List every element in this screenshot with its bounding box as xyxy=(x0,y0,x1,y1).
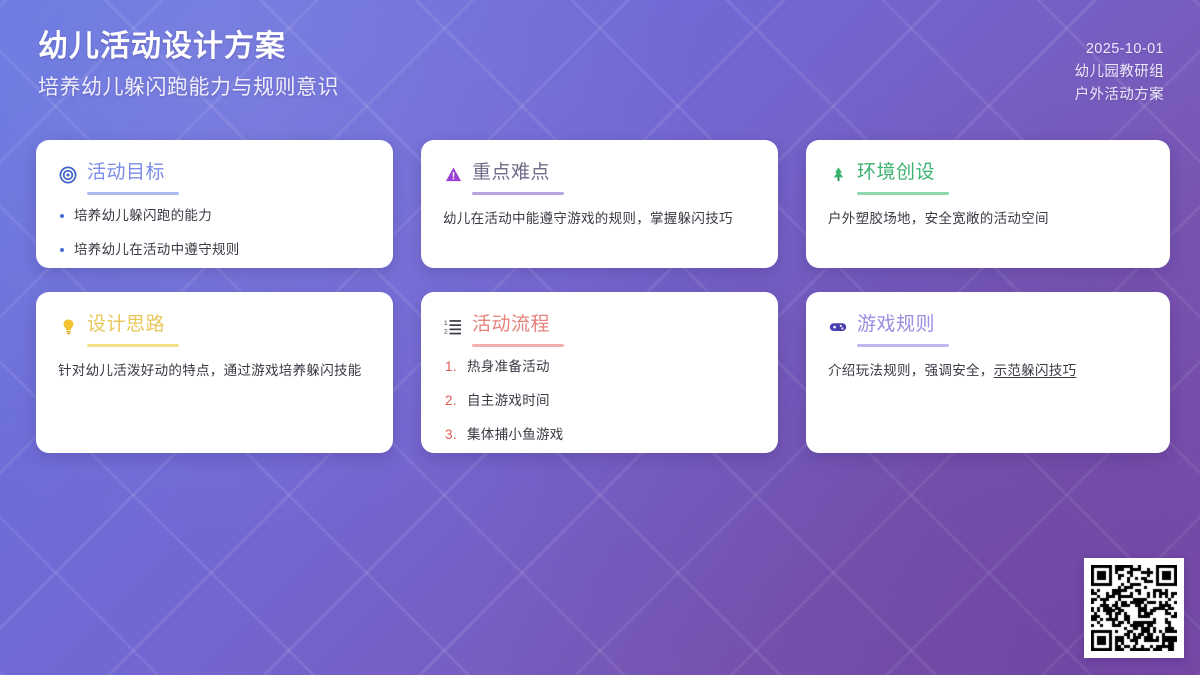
title-underline xyxy=(472,344,564,347)
card-header: 游戏规则 xyxy=(828,312,1150,341)
title-underline xyxy=(87,192,179,195)
card-body: 幼儿在活动中能遵守游戏的规则，掌握躲闪技巧 xyxy=(443,208,758,230)
warning-triangle-icon xyxy=(443,165,463,185)
qr-code xyxy=(1091,565,1177,651)
target-icon xyxy=(58,165,78,185)
card-grid: 活动目标 培养幼儿躲闪跑的能力 培养幼儿在活动中遵守规则 重点难点 xyxy=(36,140,1166,453)
card-body: 针对幼儿活泼好动的特点，通过游戏培养躲闪技能 xyxy=(58,360,373,382)
list-item: 培养幼儿躲闪跑的能力 xyxy=(58,205,373,227)
card-header: 重点难点 xyxy=(443,160,758,189)
card-activity-flow[interactable]: 1 2 活动流程 热身准备活动 自主游戏时间 集体捕小鱼游戏 xyxy=(421,292,778,453)
card-title: 活动目标 xyxy=(87,160,165,189)
card-body-emphasis: 示范躲闪技巧 xyxy=(994,363,1077,378)
page-title: 幼儿活动设计方案 xyxy=(38,26,339,68)
title-underline xyxy=(87,344,179,347)
card-activity-goals[interactable]: 活动目标 培养幼儿躲闪跑的能力 培养幼儿在活动中遵守规则 xyxy=(36,140,393,268)
card-design-approach[interactable]: 设计思路 针对幼儿活泼好动的特点，通过游戏培养躲闪技能 xyxy=(36,292,393,453)
meta-date: 2025-10-01 xyxy=(1075,38,1164,61)
header-left: 幼儿活动设计方案 培养幼儿躲闪跑能力与规则意识 xyxy=(38,26,339,106)
numbered-list-icon: 1 2 xyxy=(443,317,463,337)
slide-header: 幼儿活动设计方案 培养幼儿躲闪跑能力与规则意识 2025-10-01 幼儿园教研… xyxy=(0,0,1200,126)
meta-category: 户外活动方案 xyxy=(1075,84,1164,107)
card-key-difficulties[interactable]: 重点难点 幼儿在活动中能遵守游戏的规则，掌握躲闪技巧 xyxy=(421,140,778,268)
list-item: 培养幼儿在活动中遵守规则 xyxy=(58,239,373,261)
card-body: 户外塑胶场地，安全宽敞的活动空间 xyxy=(828,208,1150,230)
card-title: 游戏规则 xyxy=(857,312,935,341)
card-header: 设计思路 xyxy=(58,312,373,341)
card-title: 设计思路 xyxy=(87,312,165,341)
qr-code-container[interactable] xyxy=(1084,558,1184,658)
meta-org: 幼儿园教研组 xyxy=(1075,61,1164,84)
title-underline xyxy=(857,192,949,195)
list-item: 热身准备活动 xyxy=(443,356,758,378)
card-environment-setup[interactable]: 环境创设 户外塑胶场地，安全宽敞的活动空间 xyxy=(806,140,1170,268)
title-underline xyxy=(857,344,949,347)
card-header: 环境创设 xyxy=(828,160,1150,189)
card-game-rules[interactable]: 游戏规则 介绍玩法规则，强调安全，示范躲闪技巧 xyxy=(806,292,1170,453)
page-subtitle: 培养幼儿躲闪跑能力与规则意识 xyxy=(38,70,339,106)
slide-canvas: 幼儿活动设计方案 培养幼儿躲闪跑能力与规则意识 2025-10-01 幼儿园教研… xyxy=(0,0,1200,675)
header-meta: 2025-10-01 幼儿园教研组 户外活动方案 xyxy=(1075,26,1164,107)
card-header: 1 2 活动流程 xyxy=(443,312,758,341)
card-header: 活动目标 xyxy=(58,160,373,189)
goal-list: 培养幼儿躲闪跑的能力 培养幼儿在活动中遵守规则 xyxy=(58,205,373,261)
title-underline xyxy=(472,192,564,195)
svg-text:1: 1 xyxy=(444,320,448,327)
svg-text:2: 2 xyxy=(444,328,448,335)
card-body-plain: 介绍玩法规则，强调安全， xyxy=(828,363,994,378)
list-item: 集体捕小鱼游戏 xyxy=(443,424,758,446)
gamepad-icon xyxy=(828,317,848,337)
card-title: 环境创设 xyxy=(857,160,935,189)
card-title: 活动流程 xyxy=(472,312,550,341)
card-title: 重点难点 xyxy=(472,160,550,189)
evergreen-tree-icon xyxy=(828,165,848,185)
step-list: 热身准备活动 自主游戏时间 集体捕小鱼游戏 xyxy=(443,356,758,446)
lightbulb-icon xyxy=(58,317,78,337)
list-item: 自主游戏时间 xyxy=(443,390,758,412)
card-body: 介绍玩法规则，强调安全，示范躲闪技巧 xyxy=(828,360,1150,382)
